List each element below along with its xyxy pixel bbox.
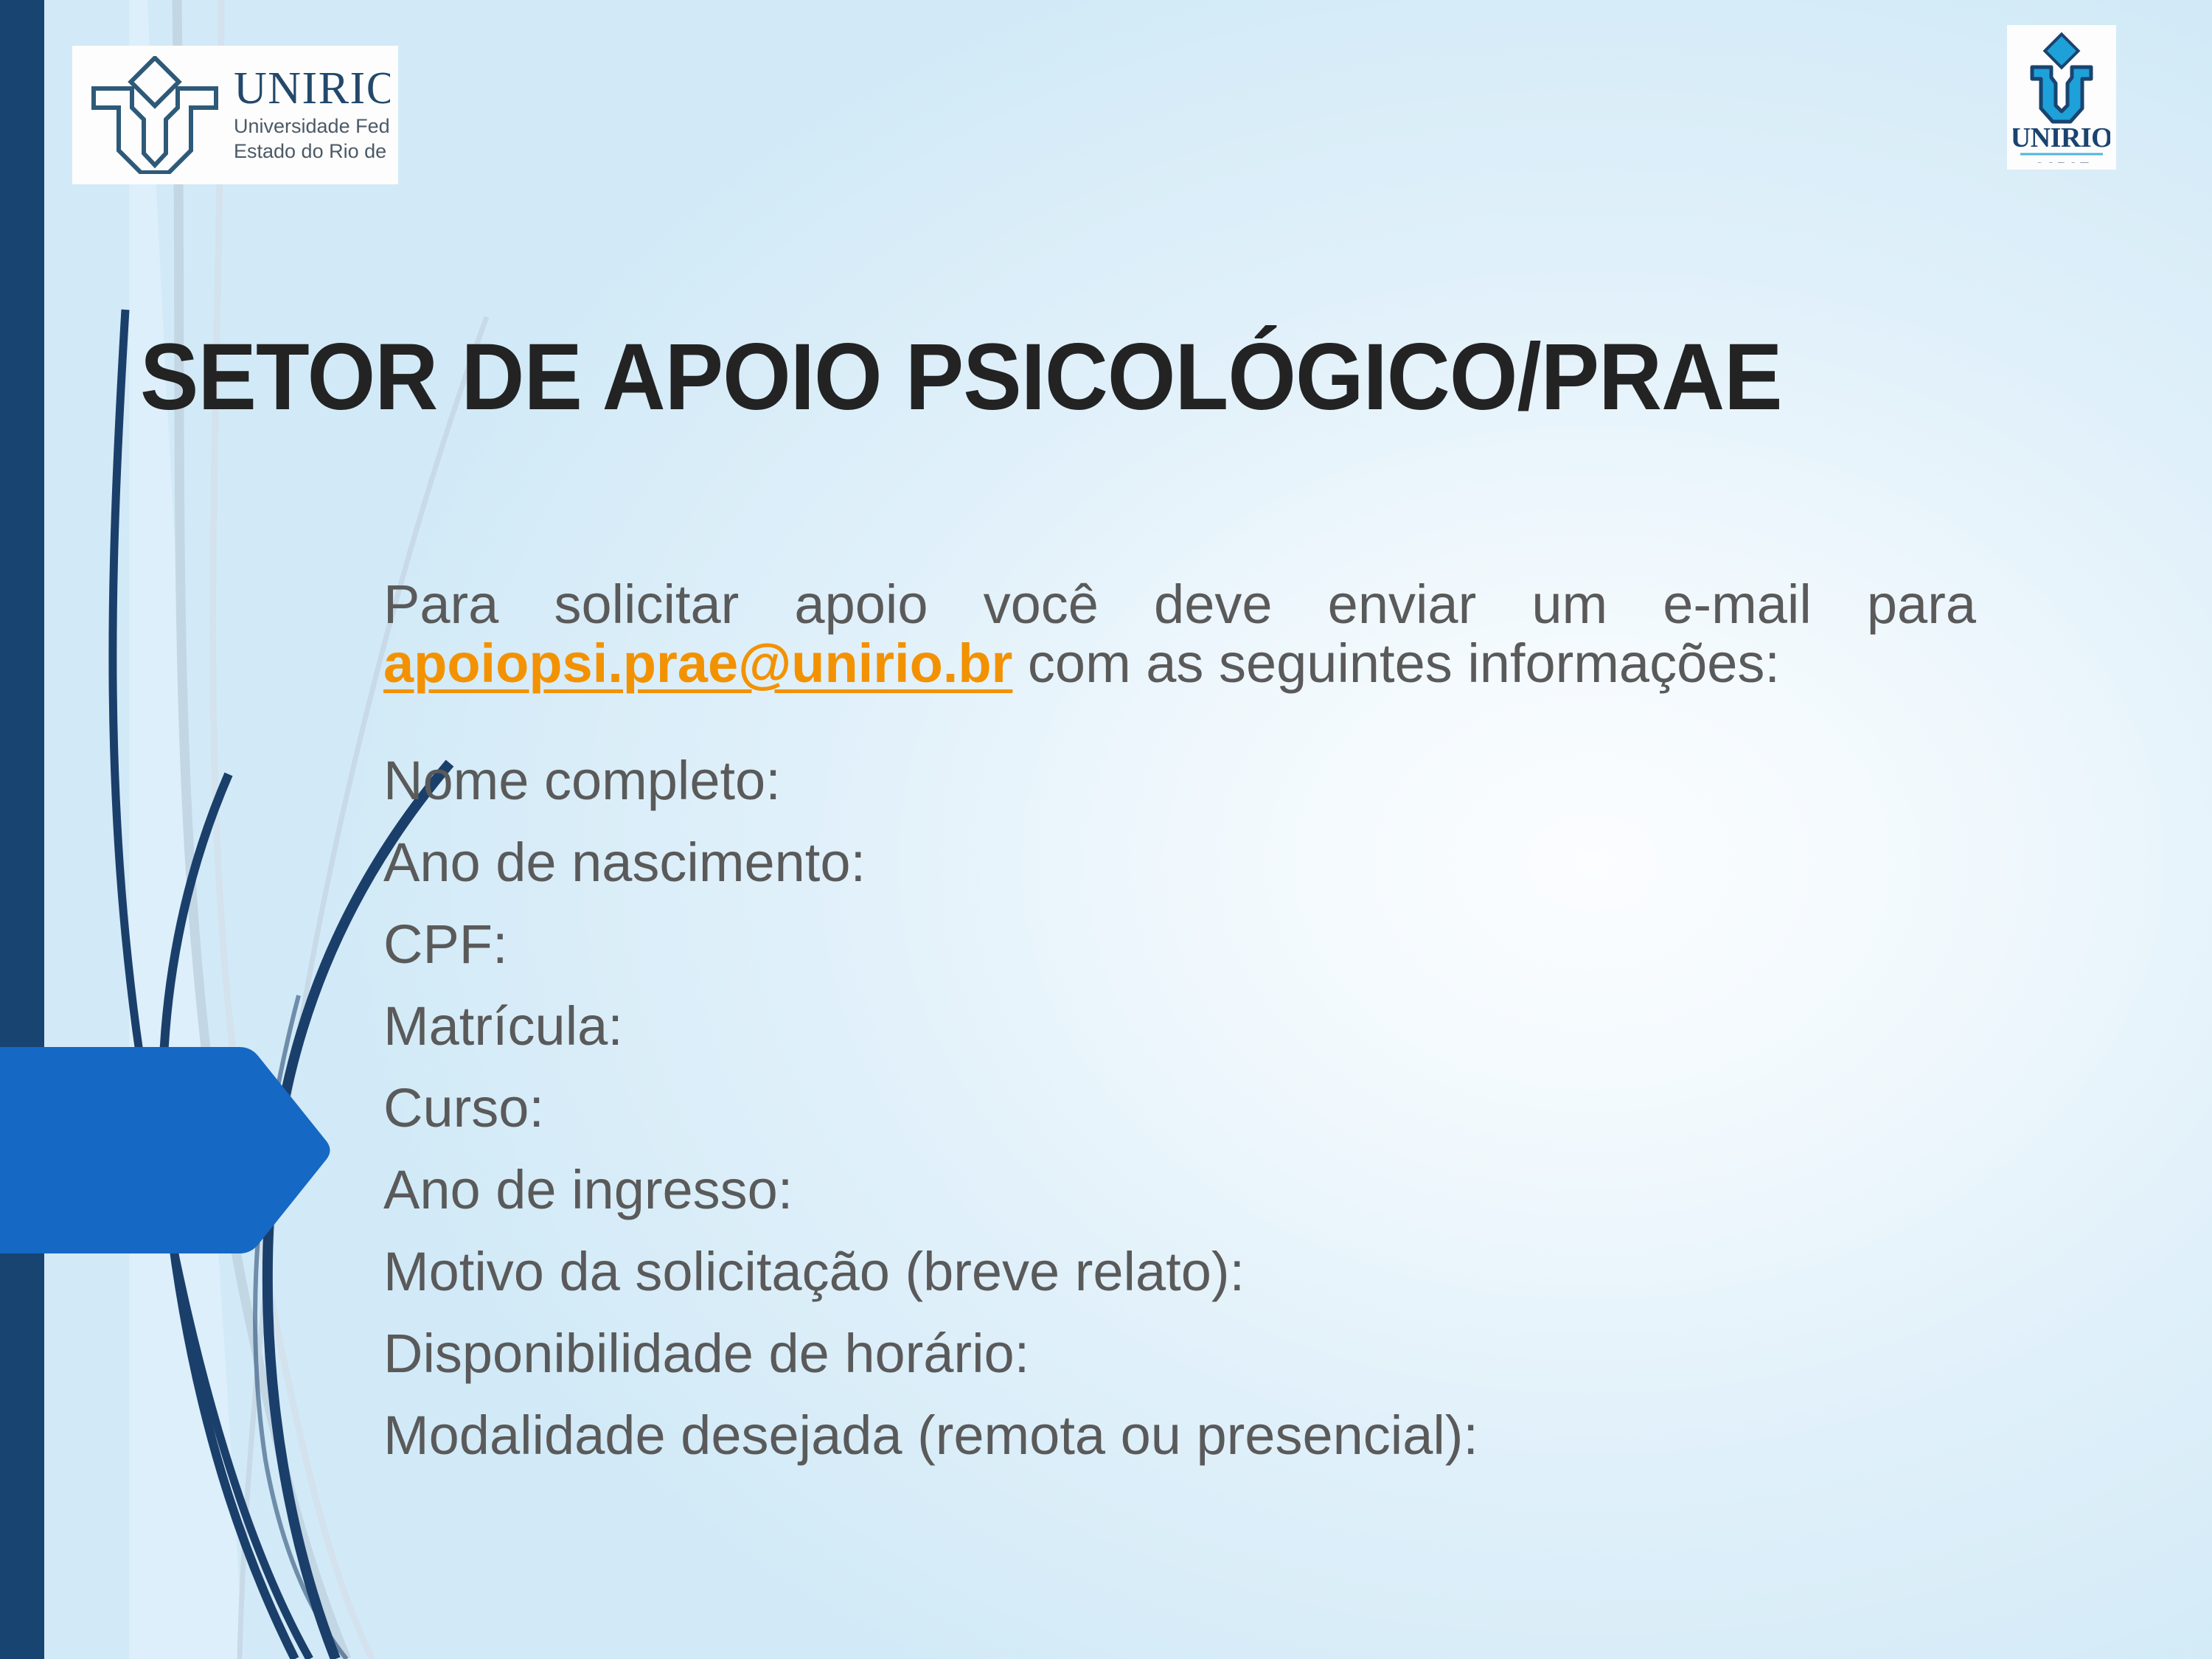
requested-fields-list: Nome completo: Ano de nascimento: CPF: M… (383, 754, 1976, 1463)
left-accent-band (0, 0, 44, 1659)
intro-text-after: com as seguintes informações: (1012, 633, 1780, 694)
svg-text:Estado do Rio de Janeiro: Estado do Rio de Janeiro (234, 140, 390, 162)
page-title: SETOR DE APOIO PSICOLÓGICO/PRAE (140, 330, 1992, 425)
intro-paragraph: Para solicitar apoio você deve enviar um… (383, 575, 1976, 693)
list-item: Motivo da solicitação (breve relato): (383, 1245, 1976, 1299)
list-item: CPF: (383, 917, 1976, 972)
svg-text:Universidade Federal do: Universidade Federal do (234, 115, 390, 137)
svg-text:UNIRIO: UNIRIO (234, 63, 390, 114)
intro-text-before: Para solicitar apoio você deve enviar um… (383, 574, 1976, 635)
list-item: Nome completo: (383, 754, 1976, 808)
svg-text:COPOE: COPOE (2034, 160, 2090, 163)
list-item: Ano de nascimento: (383, 835, 1976, 890)
unirio-logo: UNIRIO Universidade Federal do Estado do… (72, 46, 398, 184)
svg-text:UNIRIO: UNIRIO (2013, 122, 2110, 153)
support-email-link[interactable]: apoiopsi.prae@unirio.br (383, 633, 1012, 694)
copoe-logo-mark: UNIRIO COPOE (2013, 32, 2110, 163)
content-area: Para solicitar apoio você deve enviar um… (383, 575, 1976, 1490)
list-item: Ano de ingresso: (383, 1163, 1976, 1217)
list-item: Matrícula: (383, 999, 1976, 1054)
slide-canvas: UNIRIO Universidade Federal do Estado do… (0, 0, 2212, 1659)
copoe-logo: UNIRIO COPOE (2007, 25, 2116, 170)
list-item: Curso: (383, 1081, 1976, 1135)
list-item: Modalidade desejada (remota ou presencia… (383, 1408, 1976, 1463)
list-item: Disponibilidade de horário: (383, 1326, 1976, 1381)
unirio-logo-mark: UNIRIO Universidade Federal do Estado do… (80, 56, 390, 174)
